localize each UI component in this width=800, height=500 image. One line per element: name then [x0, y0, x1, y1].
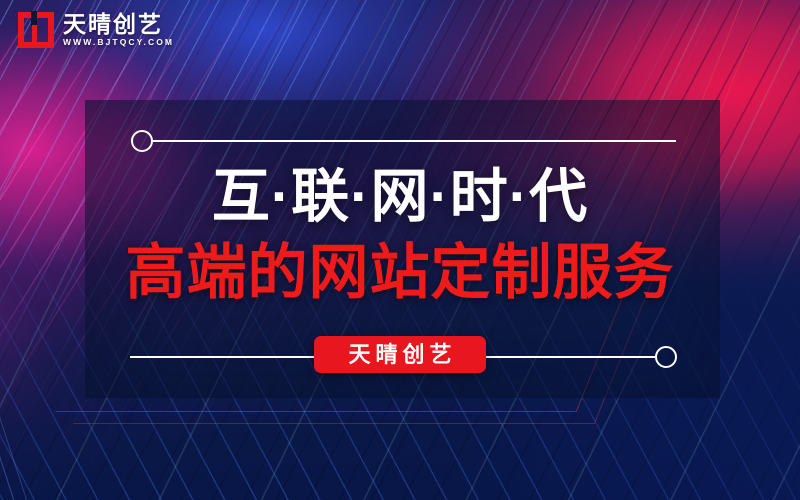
top-decorative-rule [131, 130, 676, 152]
brand-logo[interactable]: 天晴创艺 WWW.BJTQCY.COM [18, 12, 174, 48]
promo-banner: 天晴创艺 WWW.BJTQCY.COM 互·联·网·时·代 高端的网站定制服务 … [0, 0, 800, 500]
logo-mark-notch [31, 11, 37, 26]
headline-sub: 高端的网站定制服务 [0, 243, 800, 303]
brand-badge[interactable]: 天晴创艺 [314, 336, 486, 373]
circle-outline-icon [131, 130, 153, 152]
logo-text-block: 天晴创艺 WWW.BJTQCY.COM [63, 13, 174, 47]
headline-main: 互·联·网·时·代 [0, 168, 800, 226]
decorative-line [153, 140, 676, 142]
logo-mark-bar [32, 25, 37, 42]
logo-mark-icon [18, 12, 54, 48]
brand-badge-label: 天晴创艺 [343, 344, 456, 366]
logo-website-url: WWW.BJTQCY.COM [63, 38, 174, 47]
logo-company-name: 天晴创艺 [63, 13, 174, 36]
circle-outline-icon [655, 346, 677, 368]
